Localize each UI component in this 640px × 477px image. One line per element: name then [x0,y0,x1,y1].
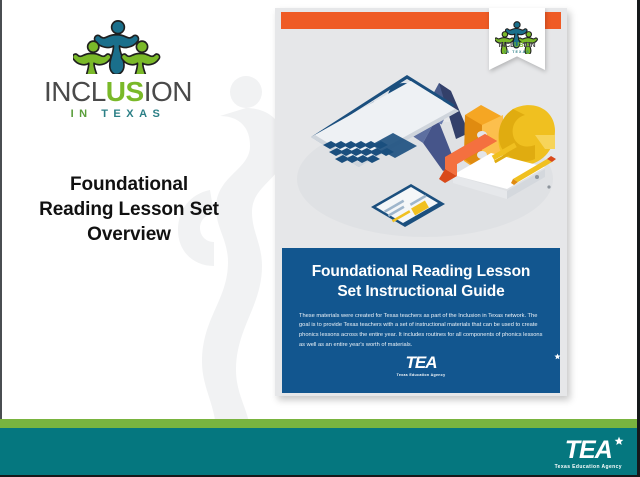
ribbon-wordmark-post: ION [524,42,536,49]
ribbon-wordmark-pre: INCL [499,42,515,49]
brand-subtitle: IN TEXAS [18,109,218,120]
brand-wordmark: INCLUSION [18,78,218,106]
slide-title-line-3: Overview [6,222,252,247]
star-icon [554,353,561,360]
tea-wordmark: TEA [565,438,612,463]
brand-wordmark-post: ION [144,76,192,107]
cover-heading-line-2: Set Instructional Guide [299,282,543,302]
brand-subtitle-state: TEXAS [101,108,165,120]
brand-subtitle-in: IN [71,108,93,120]
cover-body-text: These materials were created for Texas t… [299,312,543,351]
presentation-slide: INCLUSION IN TEXAS Foundational Reading … [0,0,640,477]
ribbon-wordmark: INCLUSION [489,42,545,49]
slide-left-edge [0,0,2,477]
tea-wordmark: TEA [406,354,437,371]
cover-ribbon-badge: INCLUSION IN TEXAS [489,8,545,70]
footer-green-stripe [0,419,640,428]
tea-tagline: Texas Education Agency [555,465,622,470]
brand-wordmark-highlight: US [106,76,144,107]
footer-tea-logo: TEA Texas Education Agency [555,438,622,470]
slide-title: Foundational Reading Lesson Set Overview [6,172,252,247]
cover-heading-line-1: Foundational Reading Lesson [299,262,543,282]
tea-lockup: TEA Texas Education Agency [397,354,446,378]
cover-text-panel: Foundational Reading Lesson Set Instruct… [282,248,560,393]
three-people-icon [73,18,163,74]
star-icon [614,436,624,446]
slide-title-line-1: Foundational [6,172,252,197]
footer-teal-band: TEA Texas Education Agency [0,428,640,477]
ribbon-wordmark-highlight: US [514,42,523,49]
slide-title-line-2: Reading Lesson Set [6,197,252,222]
ribbon-subtitle: IN TEXAS [489,50,545,54]
inclusion-brand-lockup: INCLUSION IN TEXAS [18,18,218,120]
cover-tea-logo: TEA Texas Education Agency [282,354,560,381]
brand-wordmark-pre: INCL [44,76,106,107]
cover-heading: Foundational Reading Lesson Set Instruct… [299,262,543,302]
tea-tagline: Texas Education Agency [397,374,446,378]
guide-cover-image: INCLUSION IN TEXAS Foundational Reading … [275,8,567,396]
